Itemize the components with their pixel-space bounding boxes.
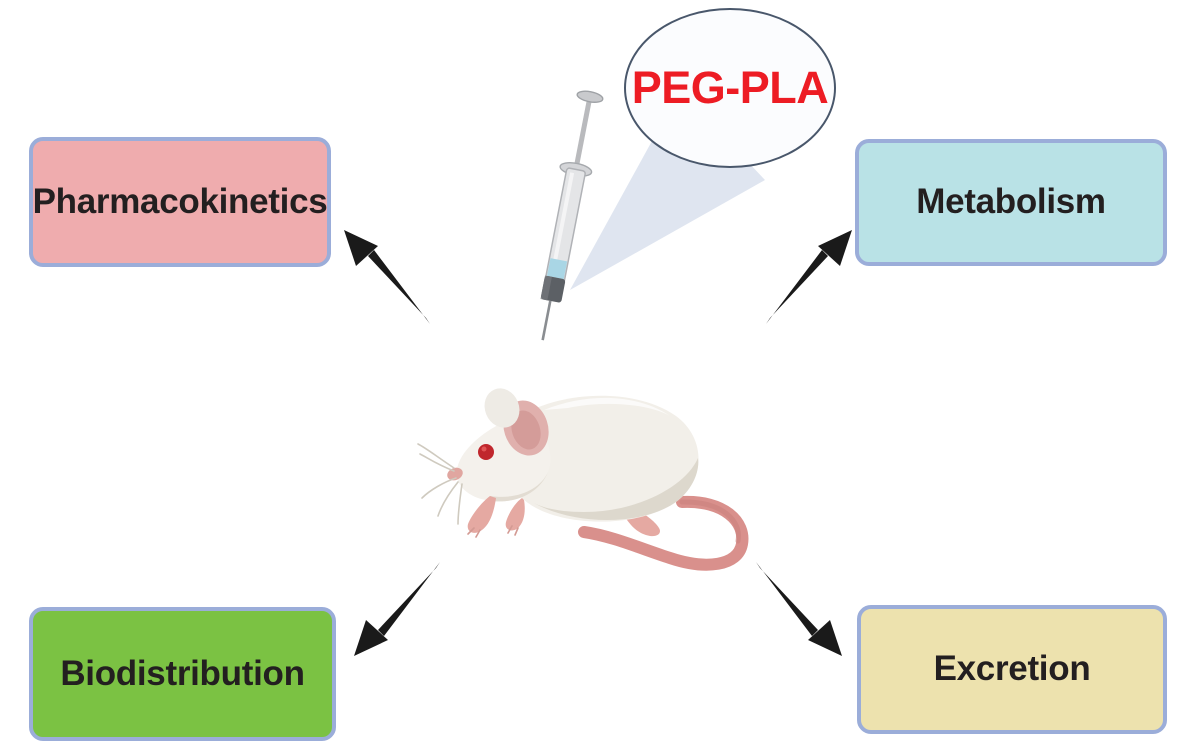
outcome-label-biodistribution: Biodistribution bbox=[60, 655, 304, 694]
outcome-label-pharmacokinetics: Pharmacokinetics bbox=[33, 183, 328, 222]
outcome-box-excretion[interactable]: Excretion bbox=[857, 605, 1167, 734]
peg-pla-label: PEG-PLA bbox=[632, 62, 829, 114]
outcome-box-metabolism[interactable]: Metabolism bbox=[855, 139, 1167, 266]
arrow-to-pharmacokinetics bbox=[338, 228, 438, 328]
laboratory-mouse-icon bbox=[424, 352, 766, 580]
peg-pla-callout-bubble: PEG-PLA bbox=[624, 8, 836, 168]
outcome-box-pharmacokinetics[interactable]: Pharmacokinetics bbox=[29, 137, 331, 267]
outcome-box-biodistribution[interactable]: Biodistribution bbox=[29, 607, 336, 741]
outcome-label-metabolism: Metabolism bbox=[916, 183, 1106, 222]
diagram-canvas: PEG-PLA bbox=[0, 0, 1179, 745]
syringe-icon bbox=[500, 75, 640, 345]
outcome-label-excretion: Excretion bbox=[934, 650, 1091, 689]
